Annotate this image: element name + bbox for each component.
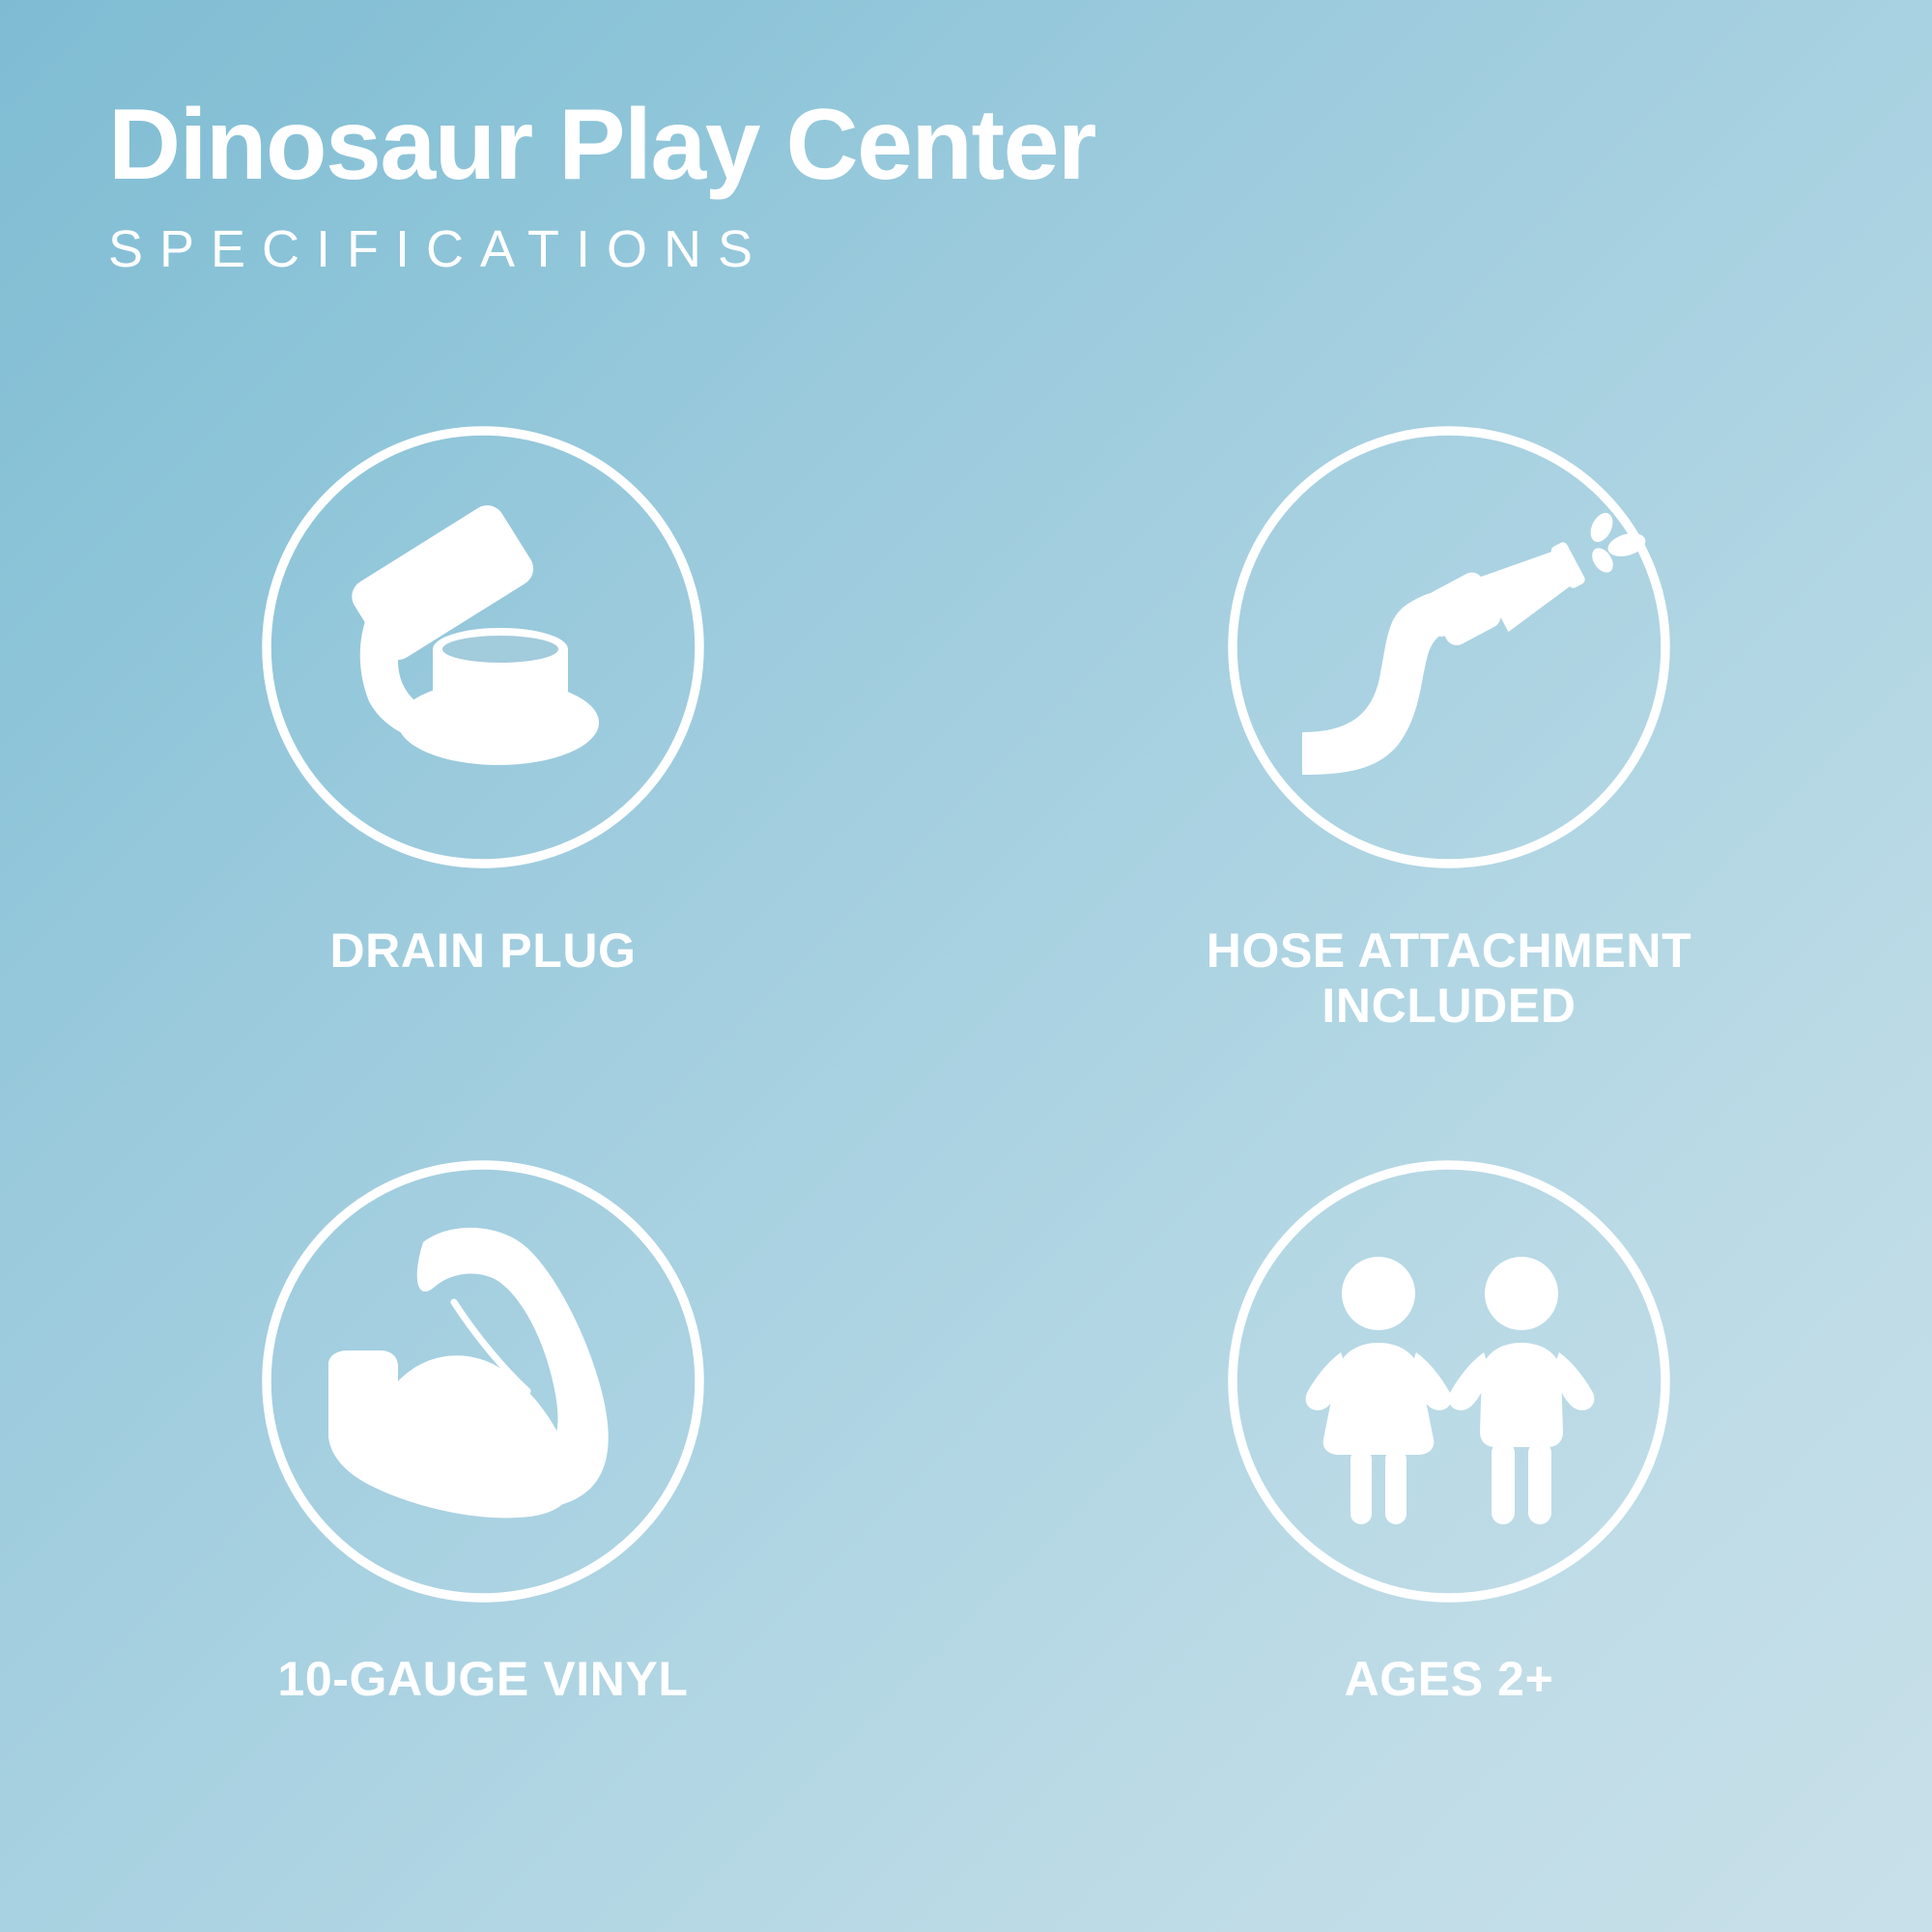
spec-label-age-rating: AGES 2+: [1345, 1604, 1554, 1707]
spec-label-drain-plug: DRAIN PLUG: [329, 869, 636, 979]
spec-label-vinyl-gauge: 10-GAUGE VINYL: [277, 1604, 688, 1707]
hose-nozzle-icon: [1227, 425, 1671, 869]
spec-item-hose-attachment: HOSE ATTACHMENT INCLUDED: [966, 425, 1932, 947]
drain-plug-icon: [261, 425, 705, 869]
specifications-infographic: Dinosaur Play Center SPECIFICATIONS: [0, 0, 1932, 1932]
spec-label-hose-attachment: HOSE ATTACHMENT INCLUDED: [1101, 869, 1797, 1034]
header: Dinosaur Play Center SPECIFICATIONS: [108, 93, 1557, 275]
page-title: Dinosaur Play Center: [108, 93, 1557, 198]
flexed-bicep-icon: [261, 1159, 705, 1604]
spec-item-vinyl-gauge: 10-GAUGE VINYL: [0, 1159, 966, 1681]
two-children-icon: [1227, 1159, 1671, 1604]
page-subtitle: SPECIFICATIONS: [108, 198, 1557, 275]
spec-item-age-rating: AGES 2+: [966, 1159, 1932, 1681]
spec-grid: DRAIN PLUG: [0, 425, 1932, 1681]
spec-item-drain-plug: DRAIN PLUG: [0, 425, 966, 947]
